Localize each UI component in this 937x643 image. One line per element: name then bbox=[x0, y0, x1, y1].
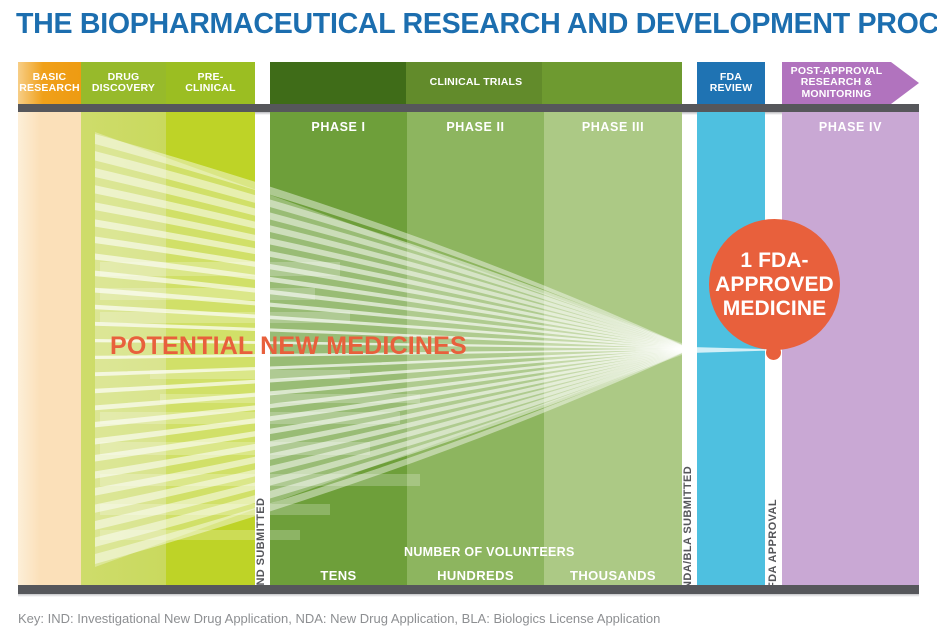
volunteers-phase-1: TENS bbox=[270, 568, 407, 583]
ribbon-segment-post-approval: POST-APPROVALRESEARCH &MONITORING bbox=[782, 62, 891, 104]
infographic-root: THE BIOPHARMACEUTICAL RESEARCH AND DEVEL… bbox=[0, 0, 937, 643]
ribbon-segment-fda-review: FDAREVIEW bbox=[697, 62, 765, 104]
phase-1-label: PHASE I bbox=[270, 120, 407, 134]
footer-key: Key: IND: Investigational New Drug Appli… bbox=[18, 611, 660, 626]
phase-4-label: PHASE IV bbox=[782, 120, 919, 134]
phase-2-label: PHASE II bbox=[407, 120, 544, 134]
ribbon-segment-clinical-trials: CLINICAL TRIALS bbox=[270, 62, 682, 104]
ribbon-arrow-head bbox=[891, 62, 919, 104]
ribbon-segment-label: PRE-CLINICAL bbox=[183, 72, 238, 95]
nda-bla-submitted-label: NDA/BLA SUBMITTED bbox=[682, 466, 694, 589]
ribbon-segment-pre-clinical: PRE-CLINICAL bbox=[166, 62, 255, 104]
phase-3-label: PHASE III bbox=[544, 120, 682, 134]
bottom-divider-shadow bbox=[18, 594, 919, 597]
ribbon-segment-label: BASICRESEARCH bbox=[17, 72, 82, 95]
column-fda-review-col bbox=[697, 112, 765, 585]
potential-new-medicines-label: POTENTIAL NEW MEDICINES bbox=[110, 332, 467, 361]
ribbon-segment-label: FDAREVIEW bbox=[708, 72, 755, 95]
page-title: THE BIOPHARMACEUTICAL RESEARCH AND DEVEL… bbox=[16, 8, 912, 41]
number-of-volunteers-header: NUMBER OF VOLUNTEERS bbox=[404, 545, 541, 559]
column-phase-4-col bbox=[782, 112, 919, 585]
ribbon-segment-basic-research: BASICRESEARCH bbox=[18, 62, 81, 104]
stage-ribbon: BASICRESEARCHDRUGDISCOVERYPRE-CLINICALCL… bbox=[0, 62, 937, 108]
ribbon-segment-label: DRUGDISCOVERY bbox=[90, 72, 157, 95]
callout-line-1: 1 FDA- bbox=[740, 249, 808, 272]
volunteers-phase-3: THOUSANDS bbox=[544, 568, 682, 583]
callout-line-3: MEDICINE bbox=[723, 297, 826, 320]
fda-approved-medicine-callout: 1 FDA- APPROVED MEDICINE bbox=[709, 219, 840, 350]
top-divider-rule bbox=[18, 104, 919, 112]
bottom-divider-rule bbox=[18, 585, 919, 594]
fda-approval-label: FDA APPROVAL bbox=[767, 499, 779, 589]
callout-line-2: APPROVED bbox=[715, 273, 834, 296]
volunteers-phase-2: HUNDREDS bbox=[407, 568, 544, 583]
ribbon-segment-label: POST-APPROVALRESEARCH &MONITORING bbox=[789, 66, 885, 101]
ribbon-segment-drug-discovery: DRUGDISCOVERY bbox=[81, 62, 166, 104]
column-basic-research-col bbox=[18, 112, 81, 585]
column-phase-3-col bbox=[544, 112, 682, 585]
ribbon-segment-label: CLINICAL TRIALS bbox=[428, 77, 525, 89]
ind-submitted-label: IND SUBMITTED bbox=[255, 498, 267, 589]
